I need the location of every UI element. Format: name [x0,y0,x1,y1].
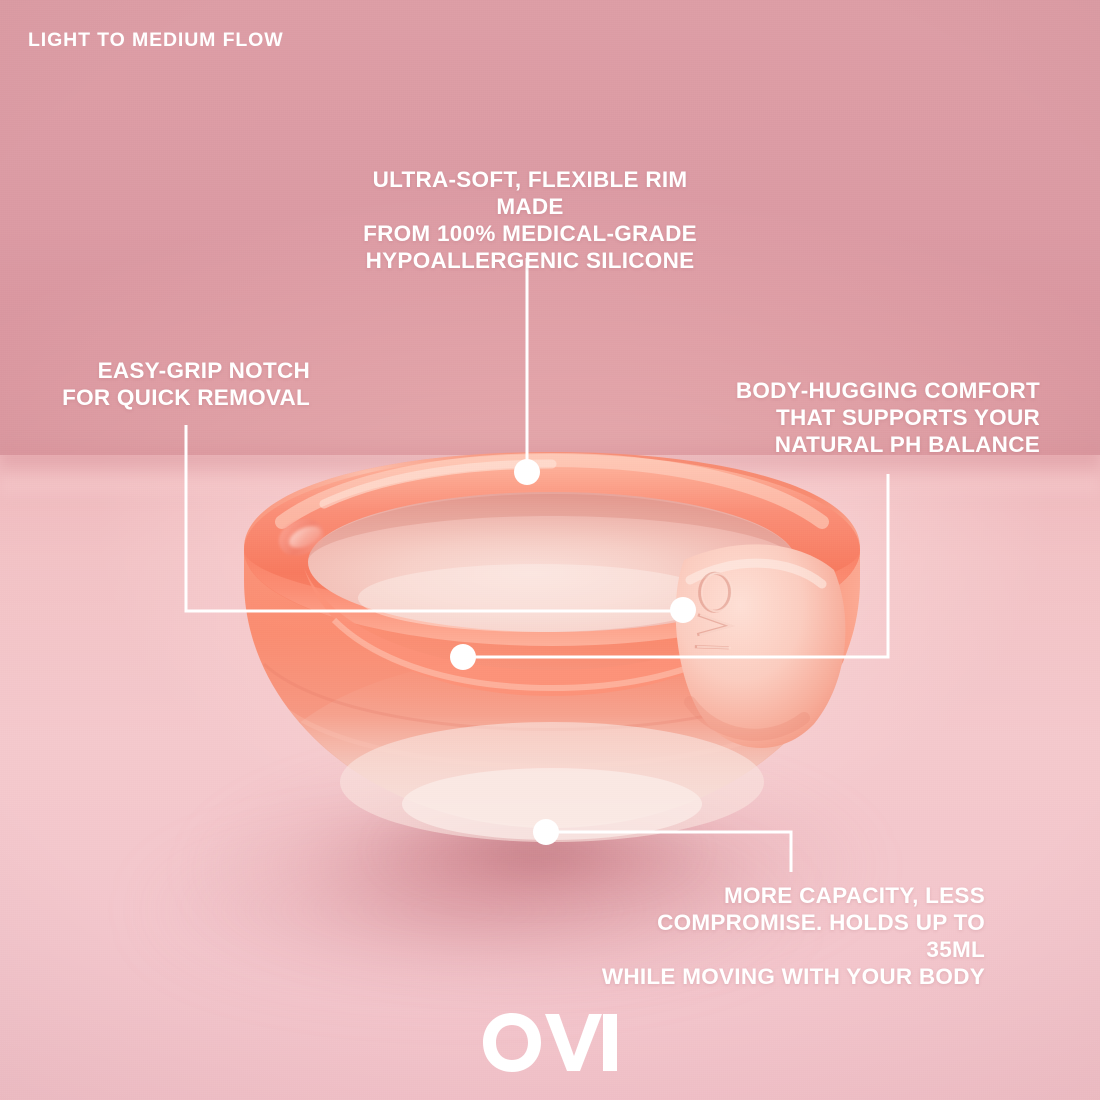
callout-label-body: BODY-HUGGING COMFORT THAT SUPPORTS YOUR … [710,377,1040,458]
callout-label-notch: EASY-GRIP NOTCH FOR QUICK REMOVAL [35,357,310,411]
brand-logo [0,1012,1100,1074]
flow-level-eyebrow: LIGHT TO MEDIUM FLOW [28,29,284,52]
infographic-canvas: LIGHT TO MEDIUM FLOW ULTRA-SOFT, FLEXIBL… [0,0,1100,1100]
callout-label-capacity: MORE CAPACITY, LESS COMPROMISE. HOLDS UP… [595,882,985,990]
embossed-brand-mark [686,566,783,659]
callout-label-rim: ULTRA-SOFT, FLEXIBLE RIM MADE FROM 100% … [345,166,715,274]
